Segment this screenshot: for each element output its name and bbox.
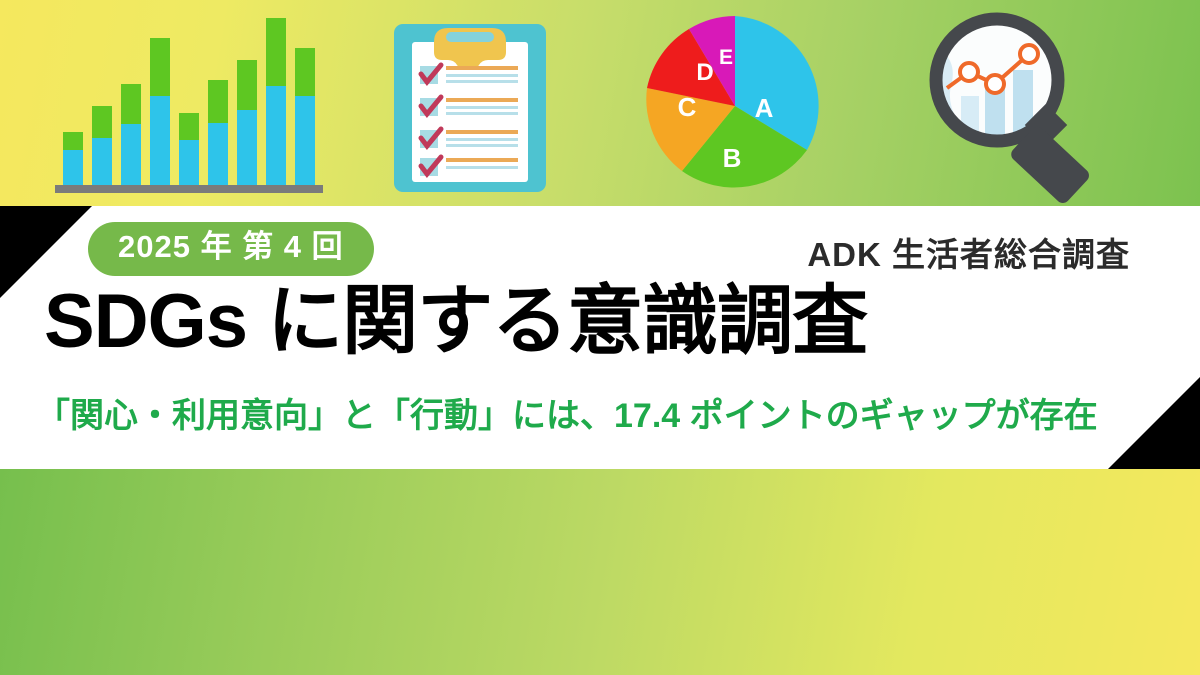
stacked-bar-chart-icon [55, 18, 305, 193]
pie-label-d: D [696, 59, 713, 86]
pie-label-c: C [678, 92, 697, 122]
magnifying-glass-chart-icon [925, 12, 1110, 200]
survey-series-label: ADK 生活者総合調査 [807, 228, 1130, 276]
pie-chart-icon: A B C D E [640, 12, 830, 200]
clipboard-checklist-icon [390, 18, 550, 198]
pie-label-b: B [723, 143, 742, 173]
bottom-decoration-band: A B C D 2020 [0, 468, 1200, 675]
top-decoration-band: A B C D E [0, 0, 1200, 207]
title-card-root: A B C D E [0, 0, 1200, 675]
pie-label-e: E [719, 46, 733, 69]
page-subtitle: 「関心・利用意向」と「行動」には、17.4 ポイントのギャップが存在 [36, 396, 1176, 437]
page-title: SDGs に関する意識調査 [44, 278, 1164, 365]
edition-badge: 2025 年 第 4 回 [88, 222, 374, 276]
pie-label-a: A [755, 93, 774, 123]
